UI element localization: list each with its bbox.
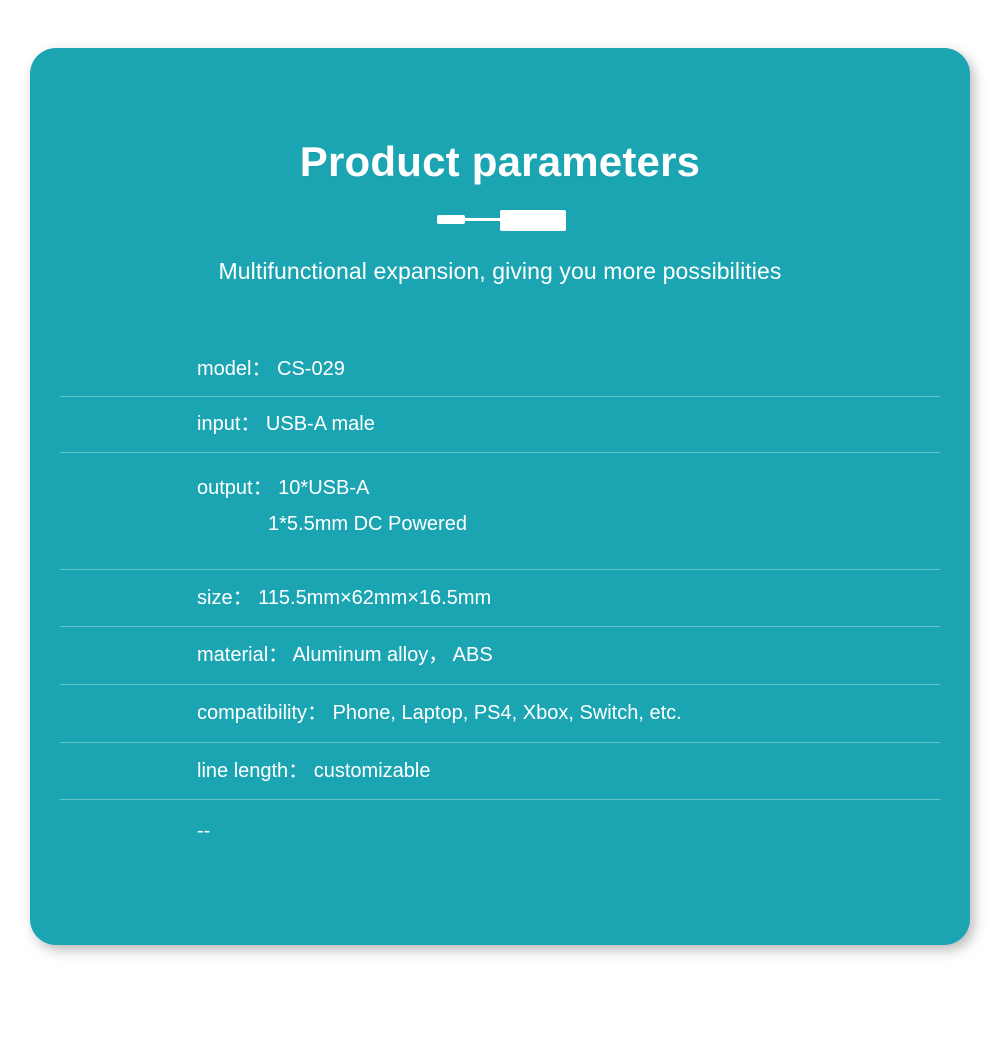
card-header: Product parameters Multifunctional expan… (30, 48, 970, 285)
spec-row-model: model： CS-029 (60, 343, 940, 397)
spec-row-compatibility: compatibility： Phone, Laptop, PS4, Xbox,… (60, 685, 940, 743)
cable-connector-icon (434, 208, 566, 232)
spec-row-line-length: line length： customizable (60, 743, 940, 800)
product-parameters-card: Product parameters Multifunctional expan… (30, 48, 970, 945)
spec-value-size: size： 115.5mm×62mm×16.5mm (197, 585, 491, 612)
spec-value-extra: -- (197, 818, 210, 845)
spec-value-model: model： CS-029 (197, 356, 345, 383)
spec-row-extra: -- (60, 800, 940, 862)
spec-value-compatibility: compatibility： Phone, Laptop, PS4, Xbox,… (197, 700, 682, 727)
spec-row-material: material： Aluminum alloy， ABS (60, 627, 940, 685)
product-parameters-page: Product parameters Multifunctional expan… (0, 0, 1000, 1040)
spec-row-size: size： 115.5mm×62mm×16.5mm (60, 570, 940, 627)
spec-value-output-group: output： 10*USB-A 1*5.5mm DC Powered (197, 475, 467, 538)
spec-row-output: output： 10*USB-A 1*5.5mm DC Powered (60, 453, 940, 570)
spec-table: model： CS-029 input： USB-A male output： … (60, 343, 940, 862)
spec-value-material: material： Aluminum alloy， ABS (197, 642, 493, 669)
cable-plug-large-icon (500, 210, 566, 231)
page-title: Product parameters (30, 140, 970, 184)
spec-value-output-line2: 1*5.5mm DC Powered (197, 511, 467, 538)
spec-value-line-length: line length： customizable (197, 758, 430, 785)
spec-value-output-line1: output： 10*USB-A (197, 475, 467, 502)
cable-wire-icon (462, 218, 504, 221)
page-subtitle: Multifunctional expansion, giving you mo… (30, 258, 970, 285)
cable-plug-small-icon (437, 215, 465, 224)
spec-value-input: input： USB-A male (197, 411, 375, 438)
spec-row-input: input： USB-A male (60, 397, 940, 453)
